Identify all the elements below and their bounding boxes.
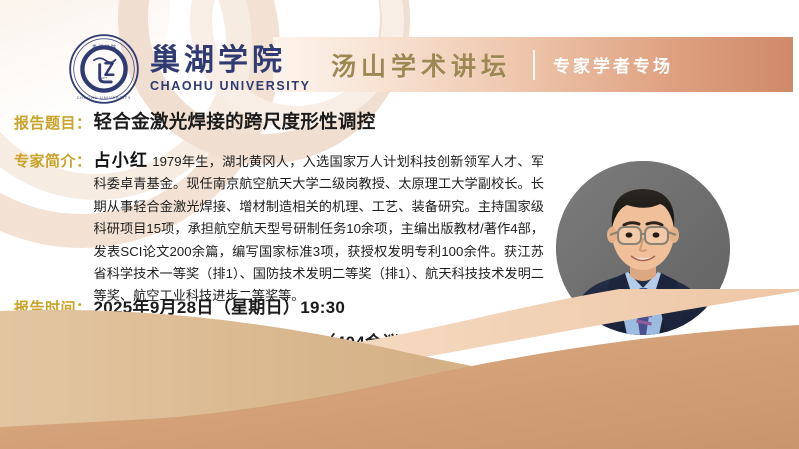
report-title-value: 轻合金激光焊接的跨尺度形性调控 [94, 108, 376, 134]
speaker-portrait-photo [556, 161, 730, 335]
svg-text:1977: 1977 [101, 76, 108, 80]
banner-divider [533, 50, 535, 80]
university-name-block: 巢湖学院 CHAOHU UNIVERSITY [150, 45, 311, 94]
speaker-bio-label: 专家简介： [14, 150, 92, 171]
report-time-value: 2025年9月28日（星期日）19:30 [94, 293, 346, 318]
report-time-label: 报告时间： [14, 297, 92, 318]
university-logo-lockup: 巢 湖 学 院 CHAOHU UNIVERSITY 1977 巢湖学院 CHAO… [68, 33, 311, 105]
host-unit-row: 主办单位： 科研处、机械工程学院 [14, 363, 267, 388]
report-place-value: 大学生活动中心四楼多功能厅（404会议室） [94, 328, 435, 353]
report-place-label: 报告地点： [14, 332, 92, 353]
speaker-bio-text: 占小红1979年生，湖北黄冈人，入选国家万人计划科技创新领军人才、军科委卓青基金… [94, 150, 544, 308]
host-unit-label: 主办单位： [14, 367, 92, 388]
university-seal-icon: 巢 湖 学 院 CHAOHU UNIVERSITY 1977 [68, 33, 140, 105]
university-name-cn: 巢湖学院 [150, 45, 311, 77]
speaker-name: 占小红 [94, 151, 149, 170]
event-poster: 汤山学术讲坛 专家学者专场 巢 湖 学 院 CHAOHU UNIVERSITY … [0, 0, 799, 449]
host-unit-value: 科研处、机械工程学院 [94, 363, 267, 388]
banner-title: 汤山学术讲坛 [331, 47, 511, 83]
report-time-row: 报告时间： 2025年9月28日（星期日）19:30 [14, 293, 345, 318]
speaker-bio-row: 专家简介： 占小红1979年生，湖北黄冈人，入选国家万人计划科技创新领军人才、军… [14, 150, 544, 308]
report-place-row: 报告地点： 大学生活动中心四楼多功能厅（404会议室） [14, 328, 434, 353]
university-name-en: CHAOHU UNIVERSITY [150, 79, 311, 93]
portrait-illustration [556, 161, 730, 335]
banner-subtitle: 专家学者专场 [553, 52, 673, 77]
svg-text:巢 湖 学 院: 巢 湖 学 院 [92, 44, 116, 51]
svg-text:CHAOHU UNIVERSITY: CHAOHU UNIVERSITY [77, 95, 132, 100]
forum-banner: 汤山学术讲坛 专家学者专场 [273, 37, 793, 92]
report-title-row: 报告题目： 轻合金激光焊接的跨尺度形性调控 [14, 108, 376, 134]
speaker-bio-paragraph: 1979年生，湖北黄冈人，入选国家万人计划科技创新领军人才、军科委卓青基金。现任… [94, 154, 545, 303]
report-title-label: 报告题目： [14, 112, 92, 133]
